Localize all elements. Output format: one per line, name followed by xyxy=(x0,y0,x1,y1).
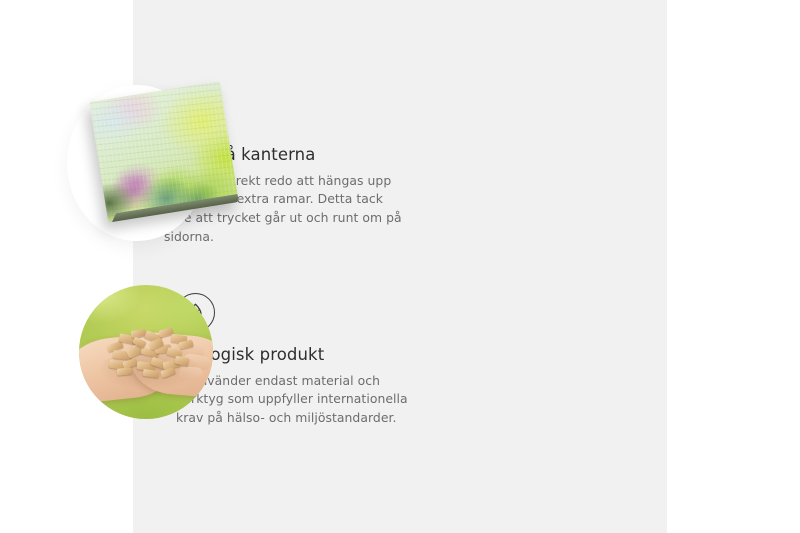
feature-content: Ekologisk produkt Vi använder endast mat… xyxy=(176,285,426,428)
green-circle-photo xyxy=(79,285,213,419)
feature-title: Ekologisk produkt xyxy=(176,345,426,365)
wood-chip xyxy=(178,340,193,350)
wood-chip xyxy=(117,367,133,376)
wood-chips-pile xyxy=(105,327,197,375)
product-feature-page: Motiv på kanterna Tavlan är direkt redo … xyxy=(0,0,800,533)
feature-block-eco-product: Ekologisk produkt Vi använder endast mat… xyxy=(12,285,426,443)
canvas-print-photo xyxy=(0,85,140,243)
feature-block-canvas-edges: Motiv på kanterna Tavlan är direkt redo … xyxy=(0,85,414,246)
feature-description: Vi använder endast material och verktyg … xyxy=(176,372,426,428)
wood-chips-in-hands-photo xyxy=(12,285,152,443)
canvas-print-image xyxy=(89,81,238,222)
content-panel xyxy=(133,0,667,533)
